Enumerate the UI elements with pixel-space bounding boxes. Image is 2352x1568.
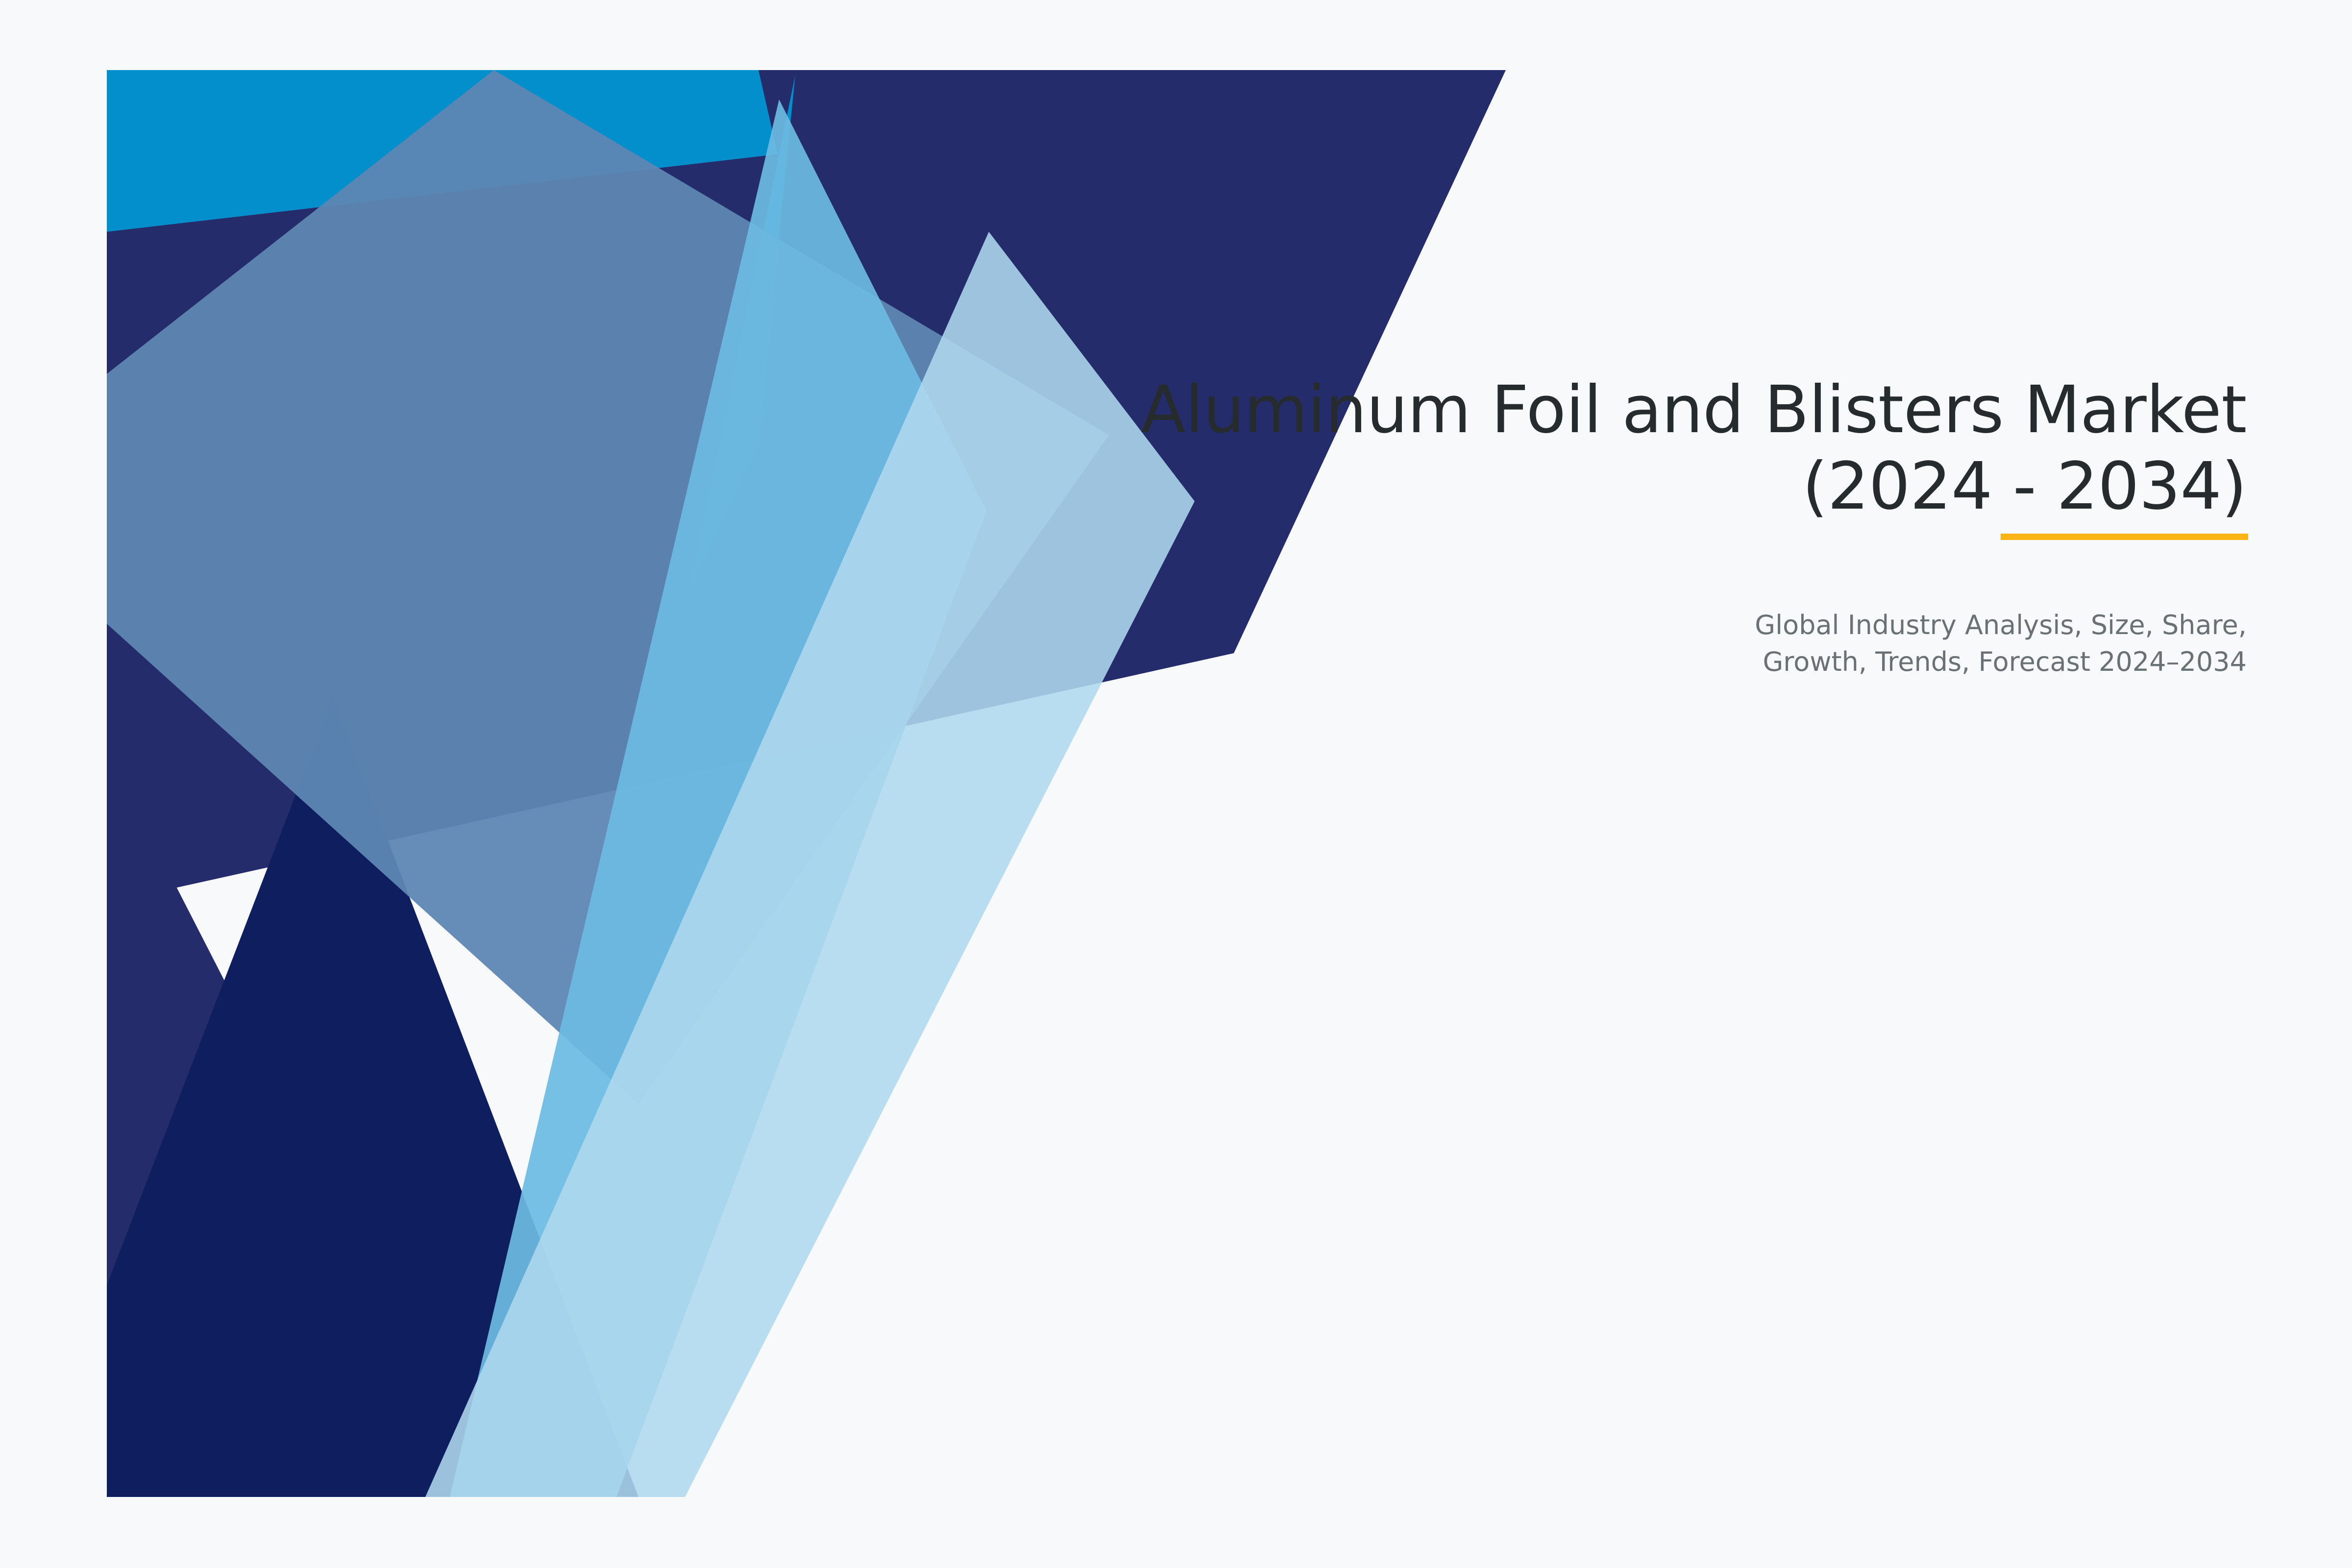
title-accent-rule	[2001, 534, 2248, 540]
abstract-geometric-artwork	[107, 70, 1508, 1497]
cover-artwork	[107, 70, 1508, 1497]
report-cover: Aluminum Foil and Blisters Market (2024 …	[0, 0, 2352, 1568]
title-block: Aluminum Foil and Blisters Market (2024 …	[1022, 372, 2247, 680]
page-title: Aluminum Foil and Blisters Market (2024 …	[1022, 372, 2247, 525]
page-subtitle: Global Industry Analysis, Size, Share, G…	[1022, 607, 2247, 680]
